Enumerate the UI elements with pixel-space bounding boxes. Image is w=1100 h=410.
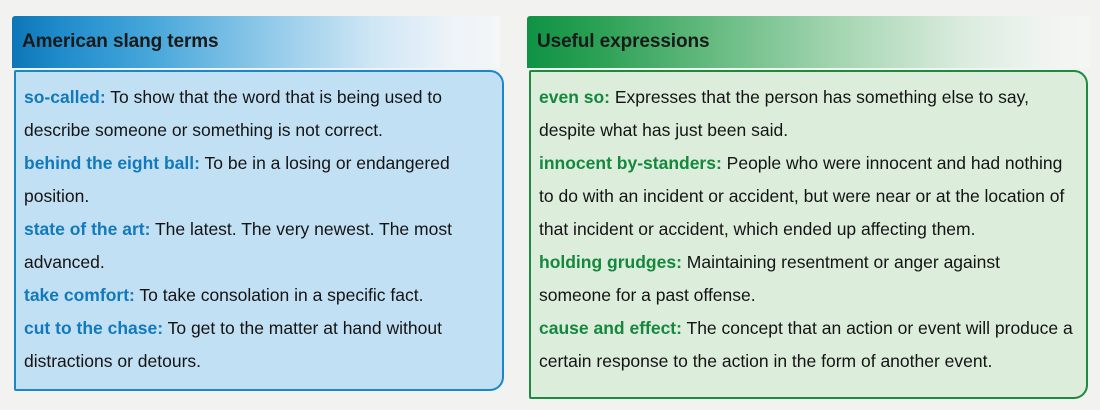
glossary-list-useful-expressions: even so: Expresses that the person has s…	[539, 81, 1074, 378]
panel-body-useful-expressions: even so: Expresses that the person has s…	[529, 70, 1088, 399]
list-item: behind the eight ball: To be in a losing…	[24, 147, 490, 213]
glossary-term: behind the eight ball:	[24, 153, 200, 173]
glossary-term: cut to the chase:	[24, 318, 163, 338]
panel-title-american-slang-terms: American slang terms	[12, 31, 219, 53]
glossary-term: holding grudges:	[539, 252, 682, 272]
panel-title-useful-expressions: Useful expressions	[527, 31, 709, 53]
glossary-definition: To take consolation in a specific fact.	[135, 285, 424, 305]
glossary-definition: Expresses that the person has something …	[539, 87, 1029, 140]
list-item: state of the art: The latest. The very n…	[24, 213, 490, 279]
panel-american-slang-terms: American slang terms so-called: To show …	[12, 0, 508, 410]
list-item: innocent by-standers: People who were in…	[539, 147, 1074, 246]
glossary-term: innocent by-standers:	[539, 153, 722, 173]
list-item: cause and effect: The concept that an ac…	[539, 312, 1074, 378]
glossary-term: so-called:	[24, 87, 106, 107]
glossary-term: cause and effect:	[539, 318, 682, 338]
panel-header-american-slang-terms: American slang terms	[12, 16, 500, 68]
list-item: cut to the chase: To get to the matter a…	[24, 312, 490, 378]
glossary-list-american-slang-terms: so-called: To show that the word that is…	[24, 81, 490, 378]
list-item: take comfort: To take consolation in a s…	[24, 279, 490, 312]
glossary-term: state of the art:	[24, 219, 150, 239]
glossary-term: even so:	[539, 87, 610, 107]
panel-useful-expressions: Useful expressions even so: Expresses th…	[527, 0, 1090, 410]
panel-body-american-slang-terms: so-called: To show that the word that is…	[14, 70, 504, 391]
list-item: even so: Expresses that the person has s…	[539, 81, 1074, 147]
glossary-term: take comfort:	[24, 285, 135, 305]
list-item: so-called: To show that the word that is…	[24, 81, 490, 147]
list-item: holding grudges: Maintaining resentment …	[539, 246, 1074, 312]
panel-header-useful-expressions: Useful expressions	[527, 16, 1090, 68]
